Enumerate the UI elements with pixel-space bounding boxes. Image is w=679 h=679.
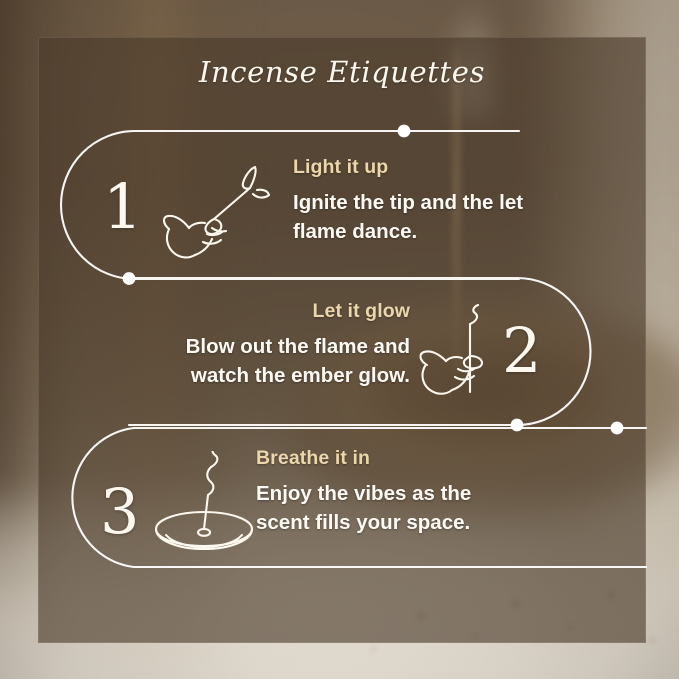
hand-holding-smoking-incense-icon [412,304,512,409]
step-3-number: 3 [100,481,139,543]
step-3: 3 Breathe it in Enjoy the vibes as the s [38,443,558,573]
poster-canvas: Incense Etiquettes 1 [0,0,679,679]
step-1-heading: Light it up [293,156,533,179]
step-1-text: Light it up Ignite the tip and the let f… [293,156,533,246]
step-3-body: Enjoy the vibes as the scent fills your … [256,479,526,537]
step-1-body: Ignite the tip and the let flame dance. [293,188,533,246]
step-1-number: 1 [103,176,142,238]
step-1: 1 Light it up [38,150,558,280]
step-2-heading: Let it glow [130,300,410,323]
hand-holding-lit-match-icon [158,162,273,267]
step-2-text: Let it glow Blow out the flame and watch… [130,300,410,390]
incense-stick-in-holder-icon [144,451,264,556]
step-2: 2 Let it glow Blow out the flam [130,296,590,426]
step-3-heading: Breathe it in [256,447,526,470]
page-title: Incense Etiquettes [38,55,646,89]
step-2-body: Blow out the flame and watch the ember g… [130,332,410,390]
step-3-text: Breathe it in Enjoy the vibes as the sce… [256,447,526,537]
